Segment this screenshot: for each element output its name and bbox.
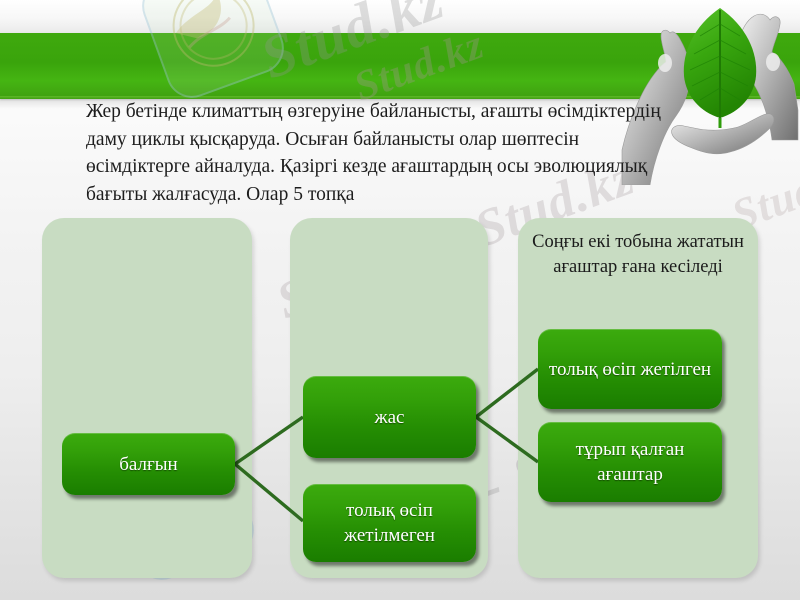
node-label: толық өсіп жетілмеген bbox=[311, 498, 468, 548]
node-zhas[interactable]: жас bbox=[303, 376, 476, 458]
node-label: тұрып қалған ағаштар bbox=[546, 437, 714, 487]
node-zhetilmegen[interactable]: толық өсіп жетілмеген bbox=[303, 484, 476, 562]
node-label: балғын bbox=[119, 452, 177, 477]
node-label: толық өсіп жетілген bbox=[549, 357, 711, 382]
slide-canvas: Stud.kz Stud.kz Stud.kz - Stud.kz Stud.k… bbox=[0, 0, 800, 600]
node-turyp-kalgan[interactable]: тұрып қалған ағаштар bbox=[538, 422, 722, 502]
node-balgyn[interactable]: балғын bbox=[62, 433, 235, 495]
node-zhetilgen[interactable]: толық өсіп жетілген bbox=[538, 329, 722, 409]
node-label: жас bbox=[375, 405, 405, 430]
